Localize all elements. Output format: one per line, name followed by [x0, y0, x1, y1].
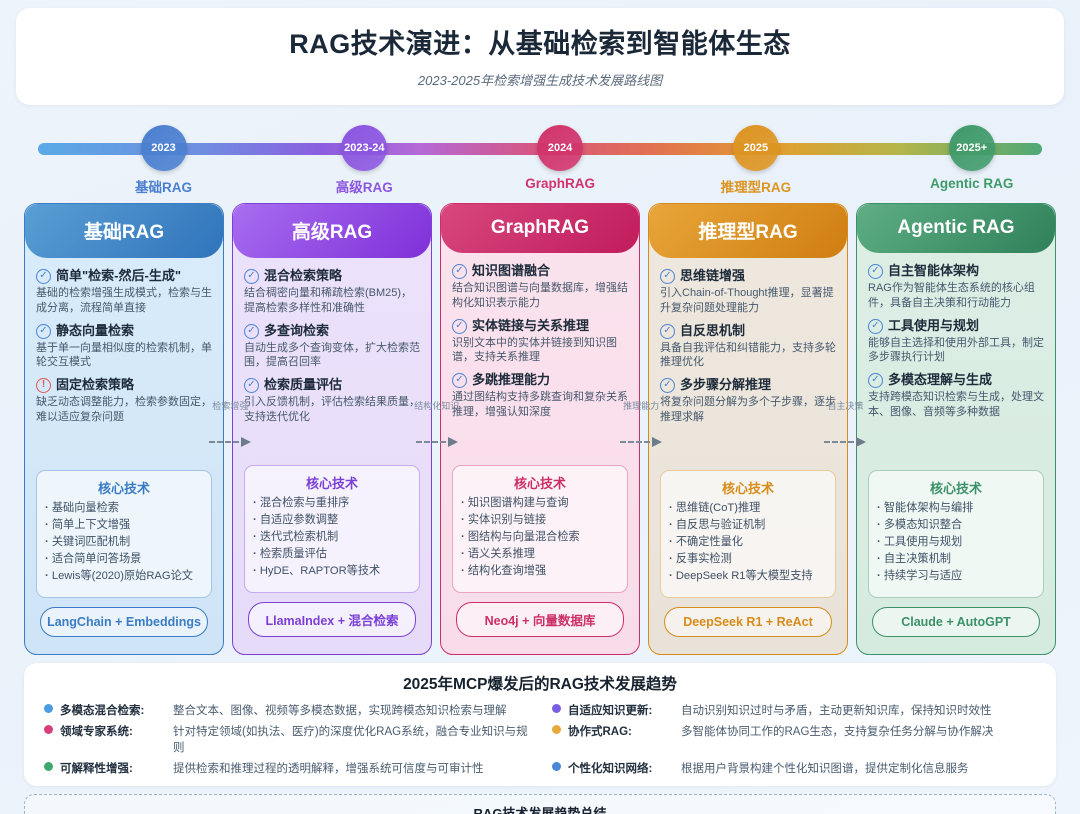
timeline: 2023基础RAG2023-24高级RAG2024GraphRAG2025推理型…: [38, 119, 1042, 191]
check-icon: ✓: [868, 319, 883, 334]
check-icon: ✓: [868, 373, 883, 388]
feature-title-row: ✓知识图谱融合: [452, 263, 628, 279]
check-icon: ✓: [452, 264, 467, 279]
feature-title: 多步骤分解推理: [680, 377, 771, 393]
trend-desc: 提供检索和推理过程的透明解释，增强系统可信度与可审计性: [173, 760, 484, 776]
core-tech-item: 混合检索与重排序: [253, 495, 411, 512]
feature-title: 静态向量检索: [56, 323, 134, 339]
feature-title: 多跳推理能力: [472, 372, 550, 388]
trend-item: 协作式RAG:多智能体协同工作的RAG生态，支持复杂任务分解与协作解决: [552, 723, 1036, 755]
feature-title: 多查询检索: [264, 323, 329, 339]
check-icon: ✓: [36, 269, 51, 284]
feature-title-row: !固定检索策略: [36, 377, 212, 393]
card-body: ✓思维链增强引入Chain-of-Thought推理，显著提升复杂问题处理能力✓…: [649, 258, 847, 654]
feature-title-row: ✓工具使用与规划: [868, 318, 1044, 334]
trend-desc: 整合文本、图像、视频等多模态数据，实现跨模态知识检索与理解: [173, 702, 507, 718]
core-tech-title: 核心技术: [877, 478, 1035, 497]
core-tech-item: 多模态知识整合: [877, 517, 1035, 534]
timeline-node-4[interactable]: 2025推理型RAG: [691, 125, 821, 196]
check-icon: ✓: [660, 269, 675, 284]
feature-title-row: ✓静态向量检索: [36, 323, 212, 339]
feature-item: ✓思维链增强引入Chain-of-Thought推理，显著提升复杂问题处理能力: [660, 268, 836, 316]
feature-desc: 具备自我评估和纠错能力，支持多轮推理优化: [660, 341, 836, 370]
core-tech-item: 自适应参数调整: [253, 512, 411, 529]
bullet-dot-icon: [552, 762, 561, 771]
feature-title-row: ✓实体链接与关系推理: [452, 318, 628, 334]
feature-title-row: ✓自反思机制: [660, 323, 836, 339]
infographic-page: RAG技术演进：从基础检索到智能体生态 2023-2025年检索增强生成技术发展…: [0, 0, 1080, 814]
timeline-node-label: 基础RAG: [99, 176, 229, 196]
feature-title: 思维链增强: [680, 268, 745, 284]
stage-card-4[interactable]: 推理型RAG✓思维链增强引入Chain-of-Thought推理，显著提升复杂问…: [648, 203, 848, 655]
feature-title-row: ✓思维链增强: [660, 268, 836, 284]
feature-desc: RAG作为智能体生态系统的核心组件，具备自主决策和行动能力: [868, 281, 1044, 310]
feature-item: ✓多模态理解与生成支持跨模态知识检索与生成，处理文本、图像、音频等多种数据: [868, 372, 1044, 420]
core-tech-item: 智能体架构与编排: [877, 500, 1035, 517]
trend-item: 可解释性增强:提供检索和推理过程的透明解释，增强系统可信度与可审计性: [44, 760, 528, 776]
stage-card-1[interactable]: 基础RAG✓简单"检索-然后-生成"基础的检索增强生成模式，检索与生成分离，流程…: [24, 203, 224, 655]
feature-desc: 结合稠密向量和稀疏检索(BM25)，提高检索多样性和准确性: [244, 286, 420, 315]
core-tech-box: 核心技术基础向量检索简单上下文增强关键词匹配机制适合简单问答场景Lewis等(2…: [36, 470, 212, 598]
core-tech-box: 核心技术混合检索与重排序自适应参数调整迭代式检索机制检索质量评估HyDE、RAP…: [244, 465, 420, 593]
core-tech-item: 图结构与向量混合检索: [461, 529, 619, 546]
timeline-node-2[interactable]: 2023-24高级RAG: [299, 125, 429, 196]
card-body: ✓自主智能体架构RAG作为智能体生态系统的核心组件，具备自主决策和行动能力✓工具…: [857, 253, 1055, 654]
feature-title-row: ✓多查询检索: [244, 323, 420, 339]
feature-item: ✓自反思机制具备自我评估和纠错能力，支持多轮推理优化: [660, 323, 836, 371]
bullet-dot-icon: [44, 725, 53, 734]
feature-item: ✓多跳推理能力通过图结构支持多跳查询和复杂关系推理，增强认知深度: [452, 372, 628, 420]
check-icon: ✓: [660, 378, 675, 393]
timeline-node-label: 推理型RAG: [691, 176, 821, 196]
check-icon: ✓: [244, 269, 259, 284]
card-title: 推理型RAG: [649, 204, 847, 258]
feature-item: ✓多步骤分解推理将复杂问题分解为多个子步骤，逐步推理求解: [660, 377, 836, 425]
core-tech-item: 不确定性量化: [669, 534, 827, 551]
feature-title: 实体链接与关系推理: [472, 318, 589, 334]
core-tech-item: 检索质量评估: [253, 546, 411, 563]
timeline-year-badge: 2025+: [949, 125, 995, 171]
card-title: Agentic RAG: [857, 204, 1055, 253]
core-tech-list: 混合检索与重排序自适应参数调整迭代式检索机制检索质量评估HyDE、RAPTOR等…: [253, 495, 411, 580]
bullet-dot-icon: [552, 704, 561, 713]
core-tech-item: 自主决策机制: [877, 551, 1035, 568]
core-tech-item: HyDE、RAPTOR等技术: [253, 563, 411, 580]
card-body: ✓知识图谱融合结合知识图谱与向量数据库，增强结构化知识表示能力✓实体链接与关系推…: [441, 253, 639, 654]
check-icon: ✓: [452, 319, 467, 334]
trend-name: 可解释性增强:: [60, 760, 166, 776]
page-subtitle: 2023-2025年检索增强生成技术发展路线图: [26, 70, 1054, 89]
core-tech-list: 思维链(CoT)推理自反思与验证机制不确定性量化反事实检测DeepSeek R1…: [669, 500, 827, 585]
feature-title: 固定检索策略: [56, 377, 134, 393]
core-tech-item: 结构化查询增强: [461, 563, 619, 580]
core-tech-item: 迭代式检索机制: [253, 529, 411, 546]
feature-title-row: ✓自主智能体架构: [868, 263, 1044, 279]
core-tech-box: 核心技术思维链(CoT)推理自反思与验证机制不确定性量化反事实检测DeepSee…: [660, 470, 836, 598]
trend-desc: 根据用户背景构建个性化知识图谱，提供定制化信息服务: [681, 760, 969, 776]
trend-name: 领域专家系统:: [60, 723, 166, 739]
trend-name: 协作式RAG:: [568, 723, 674, 739]
stage-card-3[interactable]: GraphRAG✓知识图谱融合结合知识图谱与向量数据库，增强结构化知识表示能力✓…: [440, 203, 640, 655]
feature-item: ✓自主智能体架构RAG作为智能体生态系统的核心组件，具备自主决策和行动能力: [868, 263, 1044, 311]
card-title: 基础RAG: [25, 204, 223, 258]
feature-desc: 支持跨模态知识检索与生成，处理文本、图像、音频等多种数据: [868, 390, 1044, 419]
bullet-dot-icon: [552, 725, 561, 734]
bullet-dot-icon: [44, 762, 53, 771]
timeline-node-label: GraphRAG: [495, 176, 625, 191]
core-tech-item: 反事实检测: [669, 551, 827, 568]
bullet-dot-icon: [44, 704, 53, 713]
core-tech-item: 持续学习与适应: [877, 568, 1035, 585]
core-tech-box: 核心技术知识图谱构建与查询实体识别与链接图结构与向量混合检索语义关系推理结构化查…: [452, 465, 628, 593]
feature-title-row: ✓多跳推理能力: [452, 372, 628, 388]
trends-panel: 2025年MCP爆发后的RAG技术发展趋势 多模态混合检索:整合文本、图像、视频…: [24, 663, 1056, 786]
feature-desc: 引入Chain-of-Thought推理，显著提升复杂问题处理能力: [660, 286, 836, 315]
stage-cards: 基础RAG✓简单"检索-然后-生成"基础的检索增强生成模式，检索与生成分离，流程…: [24, 203, 1056, 655]
trend-desc: 自动识别知识过时与矛盾，主动更新知识库，保持知识时效性: [681, 702, 992, 718]
card-title: 高级RAG: [233, 204, 431, 258]
feature-title-row: ✓检索质量评估: [244, 377, 420, 393]
feature-item: ✓实体链接与关系推理识别文本中的实体并链接到知识图谱，支持关系推理: [452, 318, 628, 366]
summary-title: RAG技术发展趋势总结: [55, 803, 1025, 814]
core-tech-item: 知识图谱构建与查询: [461, 495, 619, 512]
trends-title: 2025年MCP爆发后的RAG技术发展趋势: [44, 672, 1036, 694]
card-title: GraphRAG: [441, 204, 639, 253]
core-tech-item: 简单上下文增强: [45, 517, 203, 534]
feature-desc: 能够自主选择和使用外部工具，制定多步骤执行计划: [868, 336, 1044, 365]
timeline-node-label: 高级RAG: [299, 176, 429, 196]
trend-desc: 针对特定领域(如执法、医疗)的深度优化RAG系统，融合专业知识与规则: [173, 723, 528, 755]
feature-desc: 缺乏动态调整能力，检索参数固定，难以适应复杂问题: [36, 395, 212, 424]
warning-icon: !: [36, 378, 51, 393]
trend-item: 多模态混合检索:整合文本、图像、视频等多模态数据，实现跨模态知识检索与理解: [44, 702, 528, 718]
feature-desc: 通过图结构支持多跳查询和复杂关系推理，增强认知深度: [452, 390, 628, 419]
feature-title: 知识图谱融合: [472, 263, 550, 279]
trend-item: 领域专家系统:针对特定领域(如执法、医疗)的深度优化RAG系统，融合专业知识与规…: [44, 723, 528, 755]
check-icon: ✓: [868, 264, 883, 279]
timeline-year-badge: 2023-24: [341, 125, 387, 171]
feature-desc: 引入反馈机制，评估检索结果质量，支持迭代优化: [244, 395, 420, 424]
feature-title: 自反思机制: [680, 323, 745, 339]
stack-pill[interactable]: DeepSeek R1 + ReAct: [664, 607, 832, 637]
header-panel: RAG技术演进：从基础检索到智能体生态 2023-2025年检索增强生成技术发展…: [16, 8, 1064, 105]
trend-name: 个性化知识网络:: [568, 760, 674, 776]
core-tech-item: DeepSeek R1等大模型支持: [669, 568, 827, 585]
core-tech-item: 自反思与验证机制: [669, 517, 827, 534]
core-tech-item: 工具使用与规划: [877, 534, 1035, 551]
feature-item: ✓工具使用与规划能够自主选择和使用外部工具，制定多步骤执行计划: [868, 318, 1044, 366]
feature-desc: 基于单一向量相似度的检索机制，单轮交互模式: [36, 341, 212, 370]
core-tech-item: 实体识别与链接: [461, 512, 619, 529]
timeline-year-badge: 2025: [733, 125, 779, 171]
feature-title-row: ✓简单"检索-然后-生成": [36, 268, 212, 284]
feature-title-row: ✓混合检索策略: [244, 268, 420, 284]
feature-title: 混合检索策略: [264, 268, 342, 284]
core-tech-title: 核心技术: [45, 478, 203, 497]
feature-item: !固定检索策略缺乏动态调整能力，检索参数固定，难以适应复杂问题: [36, 377, 212, 425]
feature-title: 工具使用与规划: [888, 318, 979, 334]
core-tech-box: 核心技术智能体架构与编排多模态知识整合工具使用与规划自主决策机制持续学习与适应: [868, 470, 1044, 598]
feature-item: ✓多查询检索自动生成多个查询变体，扩大检索范围，提高召回率: [244, 323, 420, 371]
stack-pill[interactable]: Neo4j + 向量数据库: [456, 602, 624, 637]
feature-desc: 将复杂问题分解为多个子步骤，逐步推理求解: [660, 395, 836, 424]
core-tech-title: 核心技术: [461, 473, 619, 492]
feature-title: 自主智能体架构: [888, 263, 979, 279]
summary-panel: RAG技术发展趋势总结 随着MCP(多模态、上下文增强、个性化)技术的爆发，RA…: [24, 794, 1056, 814]
check-icon: ✓: [244, 378, 259, 393]
core-tech-item: 思维链(CoT)推理: [669, 500, 827, 517]
core-tech-list: 智能体架构与编排多模态知识整合工具使用与规划自主决策机制持续学习与适应: [877, 500, 1035, 585]
trends-grid: 多模态混合检索:整合文本、图像、视频等多模态数据，实现跨模态知识检索与理解自适应…: [44, 702, 1036, 776]
check-icon: ✓: [660, 324, 675, 339]
trend-desc: 多智能体协同工作的RAG生态，支持复杂任务分解与协作解决: [681, 723, 993, 739]
timeline-node-1[interactable]: 2023基础RAG: [99, 125, 229, 196]
feature-desc: 结合知识图谱与向量数据库，增强结构化知识表示能力: [452, 281, 628, 310]
trend-item: 自适应知识更新:自动识别知识过时与矛盾，主动更新知识库，保持知识时效性: [552, 702, 1036, 718]
stage-card-2[interactable]: 高级RAG✓混合检索策略结合稠密向量和稀疏检索(BM25)，提高检索多样性和准确…: [232, 203, 432, 655]
feature-title: 多模态理解与生成: [888, 372, 992, 388]
feature-item: ✓知识图谱融合结合知识图谱与向量数据库，增强结构化知识表示能力: [452, 263, 628, 311]
trend-name: 多模态混合检索:: [60, 702, 166, 718]
feature-desc: 识别文本中的实体并链接到知识图谱，支持关系推理: [452, 336, 628, 365]
core-tech-list: 知识图谱构建与查询实体识别与链接图结构与向量混合检索语义关系推理结构化查询增强: [461, 495, 619, 580]
core-tech-list: 基础向量检索简单上下文增强关键词匹配机制适合简单问答场景Lewis等(2020)…: [45, 500, 203, 585]
card-body: ✓简单"检索-然后-生成"基础的检索增强生成模式，检索与生成分离，流程简单直接✓…: [25, 258, 223, 654]
timeline-node-3[interactable]: 2024GraphRAG: [495, 125, 625, 191]
feature-item: ✓检索质量评估引入反馈机制，评估检索结果质量，支持迭代优化: [244, 377, 420, 425]
core-tech-item: 基础向量检索: [45, 500, 203, 517]
core-tech-item: 适合简单问答场景: [45, 551, 203, 568]
trend-name: 自适应知识更新:: [568, 702, 674, 718]
timeline-node-label: Agentic RAG: [907, 176, 1037, 191]
core-tech-title: 核心技术: [253, 473, 411, 492]
feature-title-row: ✓多步骤分解推理: [660, 377, 836, 393]
core-tech-item: 语义关系推理: [461, 546, 619, 563]
feature-title: 简单"检索-然后-生成": [56, 268, 181, 284]
feature-title-row: ✓多模态理解与生成: [868, 372, 1044, 388]
timeline-year-badge: 2023: [141, 125, 187, 171]
core-tech-item: 关键词匹配机制: [45, 534, 203, 551]
card-body: ✓混合检索策略结合稠密向量和稀疏检索(BM25)，提高检索多样性和准确性✓多查询…: [233, 258, 431, 654]
stack-pill[interactable]: LangChain + Embeddings: [40, 607, 208, 637]
check-icon: ✓: [244, 324, 259, 339]
stack-pill[interactable]: Claude + AutoGPT: [872, 607, 1040, 637]
stack-pill[interactable]: LlamaIndex + 混合检索: [248, 602, 416, 637]
feature-title: 检索质量评估: [264, 377, 342, 393]
feature-item: ✓简单"检索-然后-生成"基础的检索增强生成模式，检索与生成分离，流程简单直接: [36, 268, 212, 316]
stage-card-5[interactable]: Agentic RAG✓自主智能体架构RAG作为智能体生态系统的核心组件，具备自…: [856, 203, 1056, 655]
core-tech-item: Lewis等(2020)原始RAG论文: [45, 568, 203, 585]
timeline-node-5[interactable]: 2025+Agentic RAG: [907, 125, 1037, 191]
check-icon: ✓: [452, 373, 467, 388]
feature-desc: 基础的检索增强生成模式，检索与生成分离，流程简单直接: [36, 286, 212, 315]
feature-item: ✓静态向量检索基于单一向量相似度的检索机制，单轮交互模式: [36, 323, 212, 371]
timeline-year-badge: 2024: [537, 125, 583, 171]
check-icon: ✓: [36, 324, 51, 339]
core-tech-title: 核心技术: [669, 478, 827, 497]
feature-item: ✓混合检索策略结合稠密向量和稀疏检索(BM25)，提高检索多样性和准确性: [244, 268, 420, 316]
page-title: RAG技术演进：从基础检索到智能体生态: [26, 22, 1054, 61]
feature-desc: 自动生成多个查询变体，扩大检索范围，提高召回率: [244, 341, 420, 370]
trend-item: 个性化知识网络:根据用户背景构建个性化知识图谱，提供定制化信息服务: [552, 760, 1036, 776]
